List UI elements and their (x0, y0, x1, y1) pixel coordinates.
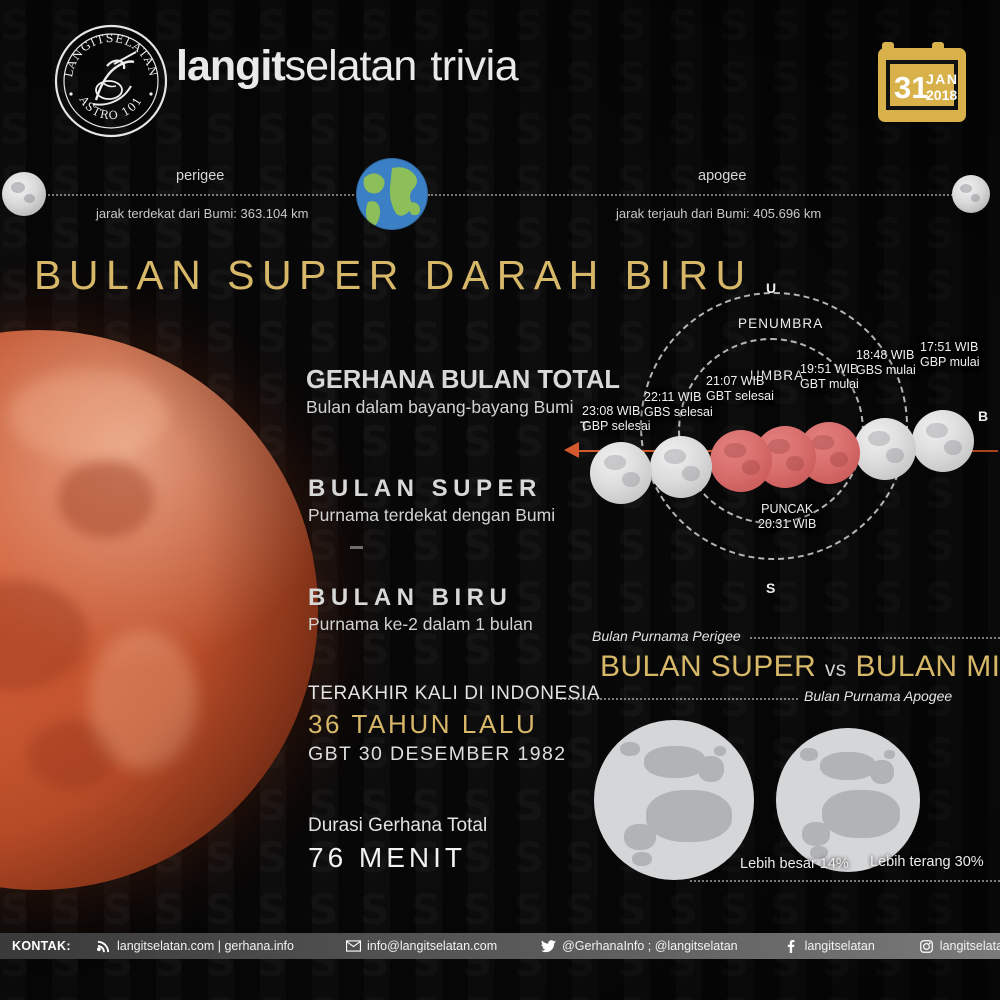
stage-1-time: 23:08 WIB (582, 404, 651, 419)
stage-5-time: 18:48 WIB (856, 348, 916, 363)
super-moon-graphic (594, 720, 754, 880)
orbit-line-left (40, 194, 358, 196)
duration-caption: Durasi Gerhana Total (308, 815, 487, 837)
title-vs: vs (825, 658, 847, 681)
stage-6-event: GBP mulai (920, 355, 980, 370)
stage-1-stamp: 23:08 WIB GBP selesai (582, 404, 651, 434)
instagram-icon (919, 940, 934, 953)
facebook-icon (784, 940, 799, 953)
stage-2-stamp: 22:11 WIB GBS selesai (644, 390, 713, 420)
stage-3-stamp: 21:07 WIB GBT selesai (706, 374, 774, 404)
moon-perigee-icon (2, 172, 46, 216)
fact-2-head: BULAN SUPER (308, 475, 555, 503)
fact-block-3: BULAN BIRU Purnama ke-2 dalam 1 bulan (308, 584, 533, 635)
peak-time: 20:31 WIB (758, 517, 816, 532)
stage-6-time: 17:51 WIB (920, 340, 980, 355)
rss-icon (96, 940, 111, 953)
last-eclipse-years: 36 TAHUN LALU (308, 709, 600, 740)
brand-bold: langit (176, 42, 285, 90)
stage-5-stamp: 18:48 WIB GBS mulai (856, 348, 916, 378)
stage-2-event: GBS selesai (644, 405, 713, 420)
stage-4-stamp: 19:51 WIB GBT mulai (800, 362, 859, 392)
compass-south: S (766, 580, 775, 596)
footer-instagram-text: langitselatanmedia (940, 939, 1000, 953)
moon-path-arrow-icon (564, 442, 579, 458)
eclipse-moon-2 (650, 436, 712, 498)
peak-label: PUNCAK (758, 502, 816, 517)
apogee-distance: jarak terjauh dari Bumi: 405.696 km (616, 206, 821, 221)
dotted-rule-captions (690, 880, 1000, 882)
perigee-label: perigee (176, 168, 224, 184)
peak-stamp: PUNCAK 20:31 WIB (758, 502, 816, 532)
calendar-day: 31 (894, 70, 928, 105)
calendar-month: JAN (926, 71, 959, 87)
fact-block-2: BULAN SUPER Purnama terdekat dengan Bumi (308, 475, 555, 526)
apogee-label: apogee (698, 168, 746, 184)
footer-item-website[interactable]: langitselatan.com | gerhana.info (96, 939, 294, 953)
moon-apogee-icon (952, 175, 990, 213)
fact-2-sub: Purnama terdekat dengan Bumi (308, 505, 555, 526)
calendar-icon: 31 JAN 2018 (876, 32, 972, 128)
footer-item-facebook[interactable]: langitselatan (784, 939, 875, 953)
fact-3-sub: Purnama ke-2 dalam 1 bulan (308, 614, 533, 635)
perigee-note: Bulan Purnama Perigee (592, 628, 741, 644)
eclipse-moon-3 (710, 430, 772, 492)
eclipse-moon-6 (912, 410, 974, 472)
eclipse-moon-1 (590, 442, 652, 504)
earth-icon (356, 158, 428, 230)
compass-north: U (766, 280, 776, 296)
duration-block: Durasi Gerhana Total 76 MENIT (308, 815, 487, 874)
stage-4-time: 19:51 WIB (800, 362, 859, 377)
logo-bottom-text: ASTRO 101 (76, 93, 145, 122)
last-eclipse-caption: TERAKHIR KALI DI INDONESIA (308, 683, 600, 705)
last-eclipse-date: GBT 30 DESEMBER 1982 (308, 743, 600, 766)
twitter-icon (541, 940, 556, 953)
footer-twitter-text: @GerhanaInfo ; @langitselatan (562, 939, 737, 953)
compass-east: B (978, 408, 988, 424)
footer-email-text: info@langitselatan.com (367, 939, 497, 953)
super-vs-mini-section: Bulan Purnama Perigee BULAN SUPER vs BUL… (560, 628, 1000, 898)
eclipse-path-diagram: U S T B PENUMBRA UMBRA 23:08 WIB GBP sel… (560, 270, 1000, 615)
footer-item-email[interactable]: info@langitselatan.com (346, 939, 497, 953)
langitselatan-logo-icon: LANGITSELATAN ASTRO 101 (52, 22, 170, 140)
title-mini: BULAN MINI (855, 650, 1000, 683)
svg-text:ASTRO 101: ASTRO 101 (76, 93, 145, 122)
perigee-distance: jarak terdekat dari Bumi: 363.104 km (96, 206, 308, 221)
stage-5-event: GBS mulai (856, 363, 916, 378)
stage-2-time: 22:11 WIB (644, 390, 713, 405)
orbit-line-right (428, 194, 960, 196)
footer-item-twitter[interactable]: @GerhanaInfo ; @langitselatan (541, 939, 737, 953)
caption-brighter: Lebih terang 30% (870, 854, 984, 870)
footer-bar: langitselatan.com | gerhana.info info@la… (0, 933, 1000, 959)
dotted-rule-bottom (560, 698, 798, 700)
divider-dash (350, 546, 363, 549)
stage-6-stamp: 17:51 WIB GBP mulai (920, 340, 980, 370)
super-vs-mini-title: BULAN SUPER vs BULAN MINI (600, 650, 1000, 684)
mini-moon-graphic (776, 728, 920, 872)
apogee-note: Bulan Purnama Apogee (804, 688, 952, 704)
footer-website-text: langitselatan.com | gerhana.info (117, 939, 294, 953)
title-super: BULAN SUPER (600, 650, 816, 683)
duration-value: 76 MENIT (308, 842, 487, 874)
brand-tail: trivia (430, 42, 518, 90)
stage-1-event: GBP selesai (582, 419, 651, 434)
caption-bigger: Lebih besar 14% (740, 856, 849, 872)
perigee-apogee-band: perigee jarak terdekat dari Bumi: 363.10… (0, 150, 1000, 240)
stage-4-event: GBT mulai (800, 377, 859, 392)
calendar-year: 2018 (926, 87, 957, 103)
last-eclipse-block: TERAKHIR KALI DI INDONESIA 36 TAHUN LALU… (308, 683, 600, 766)
footer-item-instagram[interactable]: langitselatanmedia (919, 939, 1000, 953)
penumbra-label: PENUMBRA (738, 316, 823, 331)
stage-3-time: 21:07 WIB (706, 374, 774, 389)
brand-light: selatan (285, 42, 417, 90)
envelope-icon (346, 940, 361, 953)
dotted-rule-top (750, 637, 1000, 639)
eclipse-moon-5 (854, 418, 916, 480)
footer-facebook-text: langitselatan (805, 939, 875, 953)
fact-3-head: BULAN BIRU (308, 584, 533, 612)
brand-title: langitselatantrivia (176, 42, 518, 90)
stage-3-event: GBT selesai (706, 389, 774, 404)
kontak-label: KONTAK: (12, 933, 71, 959)
